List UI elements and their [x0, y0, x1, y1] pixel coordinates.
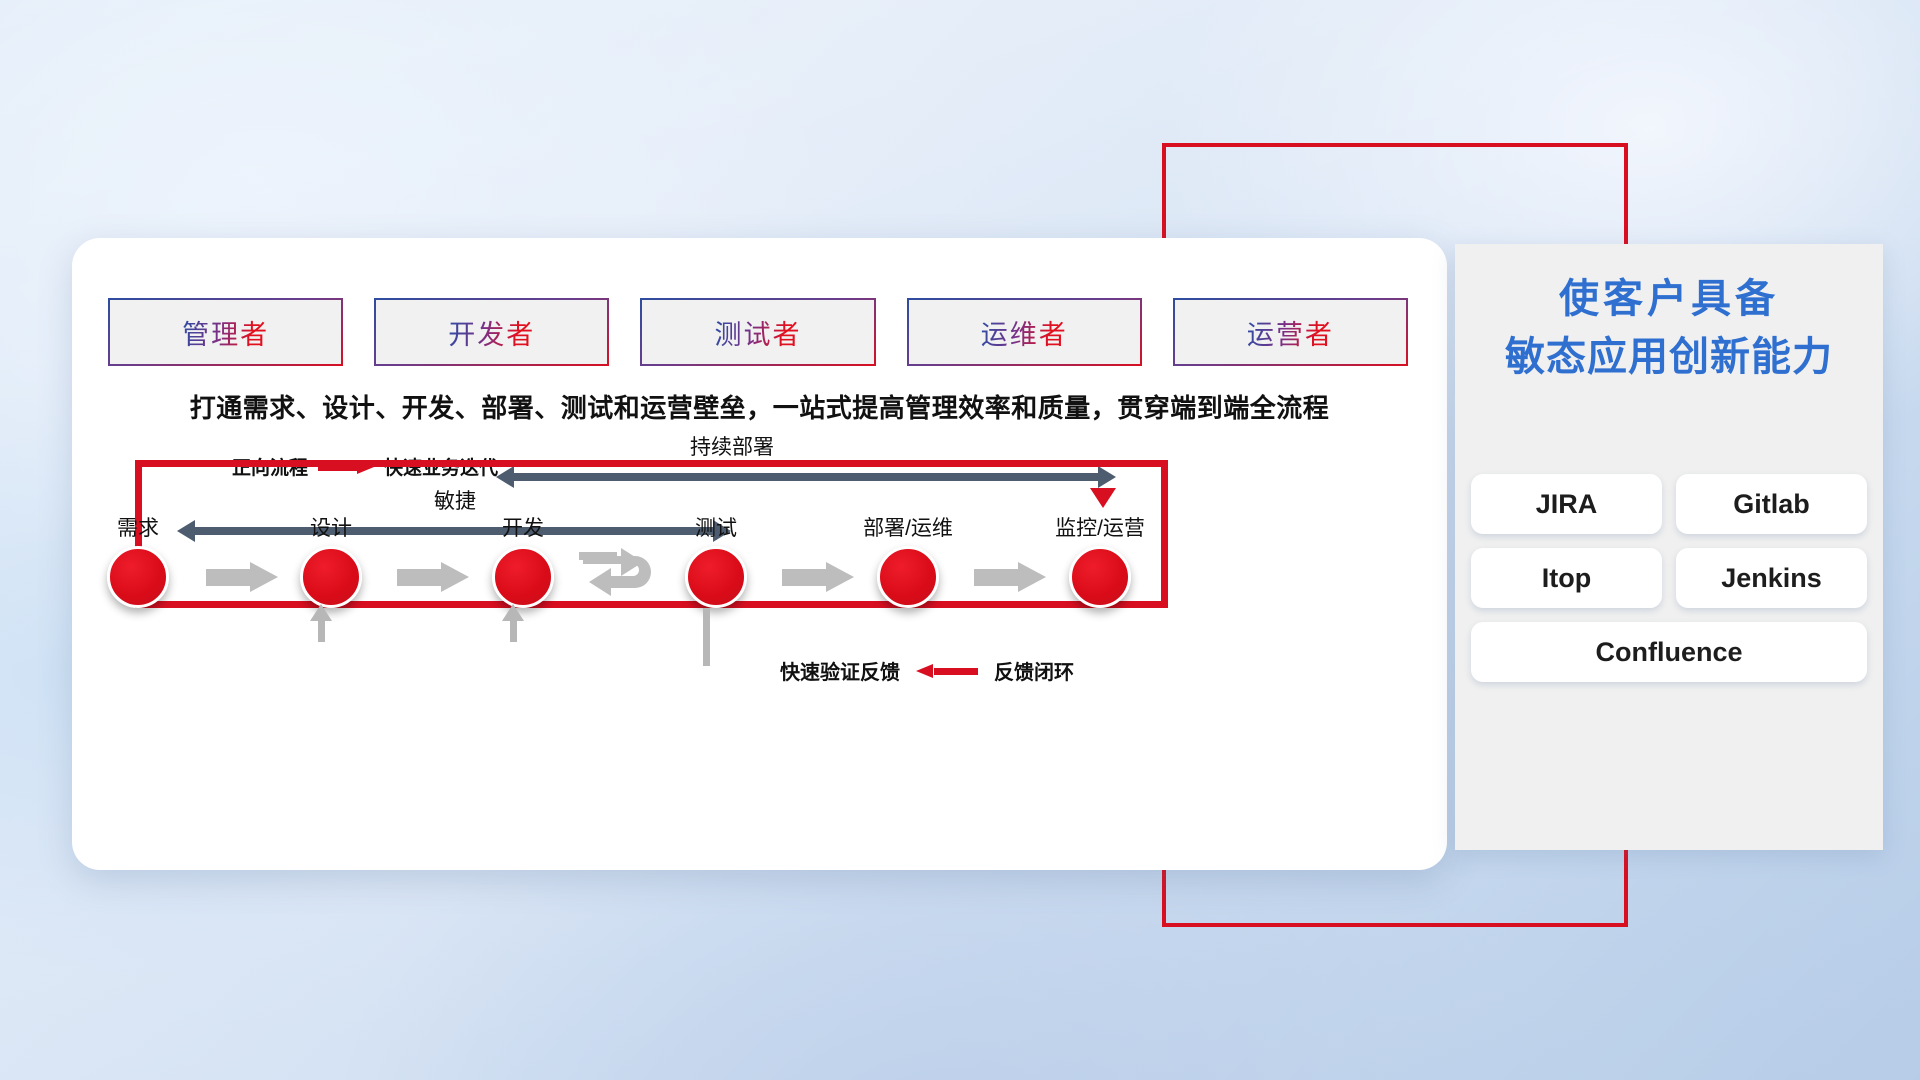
role-label: 开发者	[448, 313, 535, 352]
span-label-continuous-deployment: 持续部署	[690, 431, 774, 461]
gray-arrow-icon-2	[397, 562, 469, 592]
gray-stem-development	[510, 620, 517, 642]
pipeline-node-requirements[interactable]: 需求	[107, 546, 169, 608]
main-diagram-card: 管理者 开发者 测试者 运维者 运营者 打通需求、设计、开发、部署、测试和运营壁…	[72, 238, 1447, 870]
role-label: 测试者	[715, 313, 802, 352]
role-box-ops[interactable]: 运维者	[907, 298, 1142, 366]
role-label: 管理者	[182, 313, 269, 352]
pipeline-node-monitor-operations[interactable]: 监控/运营	[1069, 546, 1131, 608]
pipeline-node-label: 设计	[310, 512, 352, 542]
pipeline-node-label: 开发	[502, 512, 544, 542]
gray-stem-testing	[703, 608, 710, 666]
tool-badge-confluence[interactable]: Confluence	[1471, 622, 1867, 682]
feedback-right-label: 反馈闭环	[994, 656, 1074, 685]
tool-badges: JIRA Gitlab Itop Jenkins Confluence	[1471, 474, 1867, 682]
pipeline-node-testing[interactable]: 测试	[685, 546, 747, 608]
gray-stem-arrowhead-development	[502, 604, 524, 621]
pipeline-node-dot	[300, 546, 362, 608]
gray-stem-design	[318, 620, 325, 642]
tool-badge-itop[interactable]: Itop	[1471, 548, 1662, 608]
pipeline-node-development[interactable]: 开发	[492, 546, 554, 608]
role-box-developer[interactable]: 开发者	[374, 298, 609, 366]
panel-title-line2: 敏态应用创新能力	[1455, 328, 1883, 386]
pipeline-node-label: 需求	[117, 512, 159, 542]
gray-arrow-icon-3	[782, 562, 854, 592]
role-box-manager[interactable]: 管理者	[108, 298, 343, 366]
pipeline-row: 需求 设计 开发 测试 部署/运维 监控/运营	[72, 508, 1447, 628]
uturn-loop-arrow-icon	[577, 538, 669, 602]
role-boxes-row: 管理者 开发者 测试者 运维者 运营者	[108, 298, 1408, 366]
headline-text: 打通需求、设计、开发、部署、测试和运营壁垒，一站式提高管理效率和质量，贯穿端到端…	[72, 388, 1447, 425]
pipeline-node-dot	[1069, 546, 1131, 608]
panel-title-line1: 使客户具备	[1455, 270, 1883, 328]
gray-stem-arrowhead-design	[310, 604, 332, 621]
tool-badge-jenkins[interactable]: Jenkins	[1676, 548, 1867, 608]
feedback-legend: 快速验证反馈 反馈闭环	[780, 656, 1074, 685]
red-left-arrow-icon	[916, 664, 978, 678]
tool-badge-gitlab[interactable]: Gitlab	[1676, 474, 1867, 534]
pipeline-node-label: 部署/运维	[863, 512, 953, 542]
pipeline-node-dot	[492, 546, 554, 608]
pipeline-node-label: 监控/运营	[1055, 512, 1145, 542]
role-label: 运营者	[1247, 313, 1334, 352]
red-loop-down-arrowhead	[1090, 488, 1116, 508]
role-box-operations[interactable]: 运营者	[1173, 298, 1408, 366]
gray-arrow-icon-1	[206, 562, 278, 592]
gray-arrow-icon-4	[974, 562, 1046, 592]
pipeline-node-deploy-ops[interactable]: 部署/运维	[877, 546, 939, 608]
pipeline-node-dot	[107, 546, 169, 608]
pipeline-node-label: 测试	[695, 512, 737, 542]
pipeline-node-dot	[877, 546, 939, 608]
role-label: 运维者	[981, 313, 1068, 352]
value-proposition-panel: 使客户具备 敏态应用创新能力 JIRA Gitlab Itop Jenkins …	[1455, 244, 1883, 850]
feedback-left-label: 快速验证反馈	[780, 656, 900, 685]
panel-title: 使客户具备 敏态应用创新能力	[1455, 244, 1883, 386]
pipeline-node-design[interactable]: 设计	[300, 546, 362, 608]
tool-badge-jira[interactable]: JIRA	[1471, 474, 1662, 534]
pipeline-node-dot	[685, 546, 747, 608]
role-box-tester[interactable]: 测试者	[640, 298, 875, 366]
